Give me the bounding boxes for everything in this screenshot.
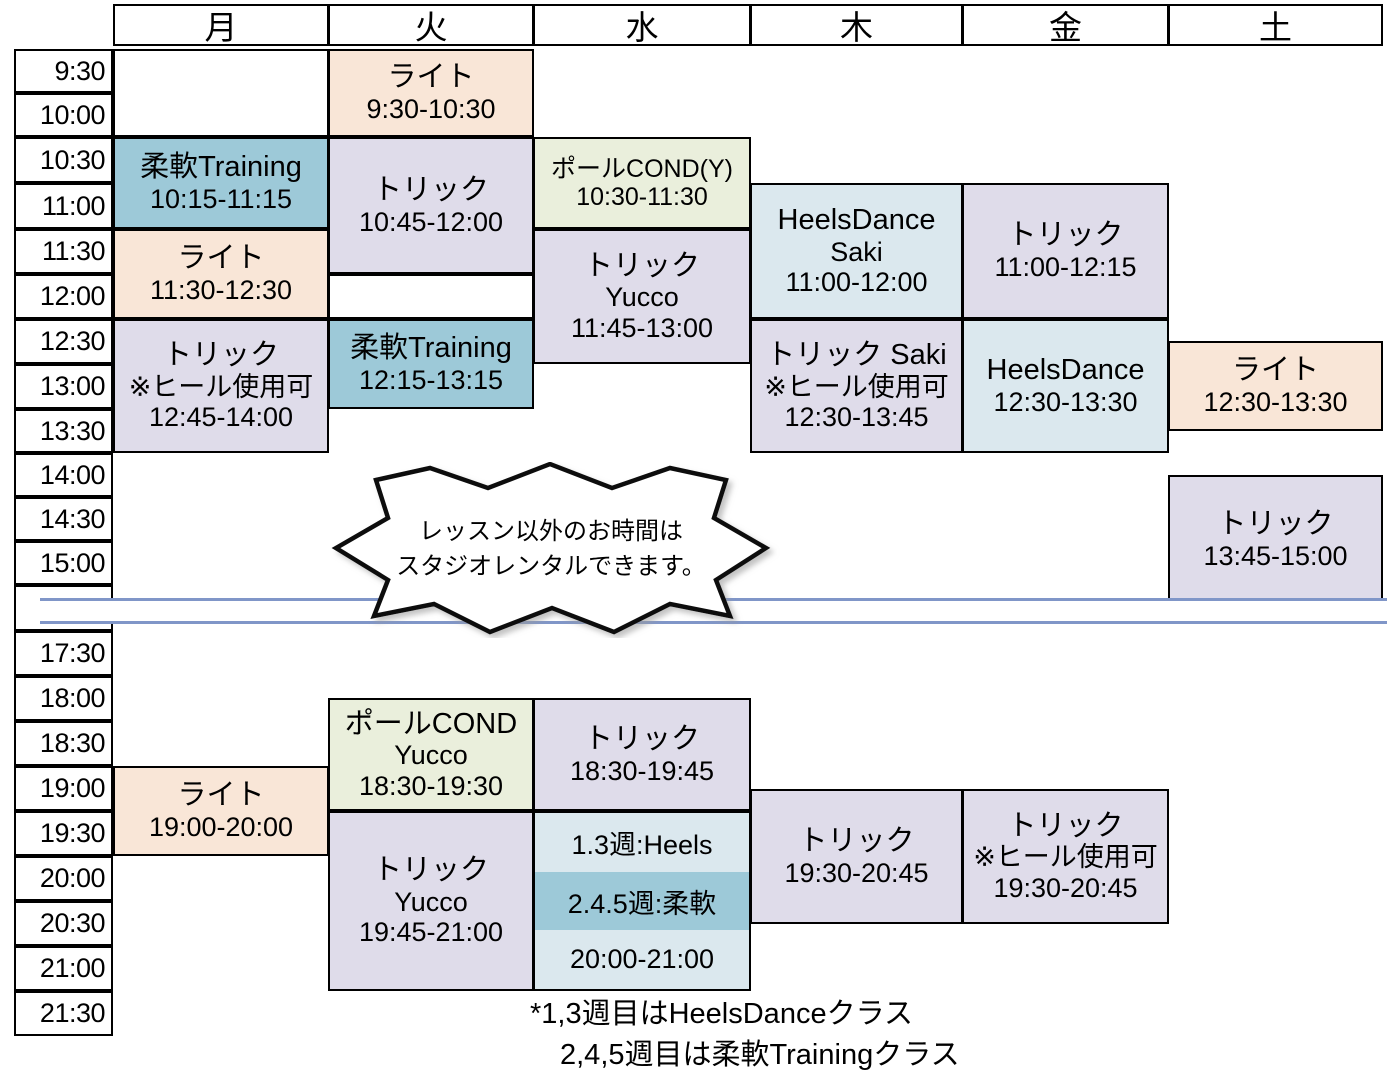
day-header-wed: 水 (533, 4, 751, 46)
class-time: 13:45-15:00 (1203, 541, 1347, 572)
time-label: 19:30 (40, 818, 105, 849)
class-title: トリック (1007, 810, 1123, 843)
class-block-fri-trick-morning[interactable]: トリック 11:00-12:15 (962, 183, 1169, 319)
footnote-line-1: *1,3週目はHeelsDanceクラス (530, 990, 913, 1032)
class-time: 20:00-21:00 (570, 944, 714, 975)
time-label: 18:00 (40, 683, 105, 714)
class-block-wed-trick-evening[interactable]: トリック 18:30-19:45 (533, 698, 751, 811)
class-title: トリック (373, 174, 489, 207)
class-time: 10:15-11:15 (150, 184, 292, 215)
time-row-1200: 12:00 (14, 274, 113, 319)
class-title: トリック (163, 339, 279, 372)
class-block-tue-juunan-training[interactable]: 柔軟Training 12:15-13:15 (328, 319, 534, 409)
day-header-thu-label: 木 (840, 1, 873, 49)
class-block-mon-light[interactable]: ライト 11:30-12:30 (113, 229, 329, 319)
day-header-wed-label: 水 (626, 1, 659, 49)
class-time: 11:30-12:30 (150, 275, 292, 306)
time-row-1430: 14:30 (14, 497, 113, 541)
day-header-sat-label: 土 (1259, 1, 1292, 49)
time-label: 10:30 (40, 145, 105, 176)
class-title: ポールCOND(Y) (551, 155, 733, 183)
time-row-1900: 19:00 (14, 766, 113, 811)
time-label: 15:00 (40, 548, 105, 579)
time-label: 13:30 (40, 416, 105, 447)
time-label: 20:00 (40, 863, 105, 894)
class-title: ライト (1232, 354, 1319, 387)
time-row-1030: 10:30 (14, 137, 113, 183)
class-title: ライト (387, 61, 474, 94)
class-block-tue-trick-evening[interactable]: トリック Yucco 19:45-21:00 (328, 811, 534, 991)
class-time: 19:45-21:00 (359, 917, 503, 948)
time-label: 13:00 (40, 371, 105, 402)
class-title: ライト (177, 779, 264, 812)
time-row-1500: 15:00 (14, 541, 113, 585)
class-block-tue-light[interactable]: ライト 9:30-10:30 (328, 49, 534, 137)
class-block-tue-trick-morning[interactable]: トリック 10:45-12:00 (328, 137, 534, 274)
class-note: ※ヒール使用可 (129, 372, 314, 403)
schedule-grid: 月 火 水 木 金 土 9:30 10:00 10:30 11:00 11:30… (0, 0, 1387, 1076)
time-label: 14:00 (40, 460, 105, 491)
class-time: 19:30-20:45 (993, 873, 1137, 904)
class-title: 柔軟Training (140, 151, 302, 184)
class-title: トリック (1007, 219, 1123, 252)
class-block-thu-trick-saki[interactable]: トリック Saki ※ヒール使用可 12:30-13:45 (750, 319, 963, 453)
class-instructor: Saki (830, 237, 883, 268)
class-title: ライト (177, 242, 264, 275)
time-row-2100: 21:00 (14, 946, 113, 991)
time-row-1330: 13:30 (14, 409, 113, 453)
class-instructor: Yucco (394, 740, 468, 771)
time-row-1800: 18:00 (14, 676, 113, 721)
time-row-2130: 21:30 (14, 991, 113, 1036)
class-time: 9:30-10:30 (366, 94, 495, 125)
class-block-thu-heelsdance-saki[interactable]: HeelsDance Saki 11:00-12:00 (750, 183, 963, 319)
schedule-page: 月 火 水 木 金 土 9:30 10:00 10:30 11:00 11:30… (0, 0, 1387, 1076)
class-note: ※ヒール使用可 (973, 842, 1158, 873)
time-label: 12:30 (40, 326, 105, 357)
class-alt-title: 2.4.5週:柔軟 (568, 882, 717, 921)
time-label: 21:30 (40, 998, 105, 1029)
time-row-1730: 17:30 (14, 631, 113, 676)
class-block-mon-juunan-training[interactable]: 柔軟Training 10:15-11:15 (113, 137, 329, 229)
class-title: ポールCOND (345, 708, 517, 741)
time-label: 9:30 (54, 56, 105, 87)
class-time: 12:15-13:15 (359, 365, 503, 396)
time-row-1230: 12:30 (14, 319, 113, 364)
time-row-0930: 9:30 (14, 49, 113, 93)
class-time: 18:30-19:45 (570, 756, 714, 787)
class-title: トリック (1217, 508, 1333, 541)
empty-cell-mon-morning (113, 49, 329, 137)
class-time: 12:30-13:30 (1203, 387, 1347, 418)
class-week13-label: 1.3週:Heels (535, 813, 749, 872)
day-header-mon-label: 月 (205, 1, 238, 49)
day-header-fri: 金 (962, 4, 1169, 46)
time-row-2000: 20:00 (14, 856, 113, 901)
class-time: 12:30-13:30 (993, 387, 1137, 418)
class-title: トリック (798, 825, 914, 858)
time-row-1930: 19:30 (14, 811, 113, 856)
class-time: 10:45-12:00 (359, 207, 503, 238)
class-block-wed-pole-cond-y[interactable]: ポールCOND(Y) 10:30-11:30 (533, 137, 751, 229)
time-label: 18:30 (40, 728, 105, 759)
class-title: HeelsDance (778, 204, 936, 237)
time-label: 19:00 (40, 773, 105, 804)
class-block-wed-heels-juunan-alternating[interactable]: 1.3週:Heels 2.4.5週:柔軟 20:00-21:00 (533, 811, 751, 991)
class-time: 19:30-20:45 (784, 858, 928, 889)
day-header-fri-label: 金 (1049, 1, 1082, 49)
class-block-sat-trick[interactable]: トリック 13:45-15:00 (1168, 475, 1383, 605)
time-label: 11:30 (42, 236, 105, 267)
time-label: 12:00 (40, 281, 105, 312)
class-block-fri-heelsdance[interactable]: HeelsDance 12:30-13:30 (962, 319, 1169, 453)
class-block-mon-light-evening[interactable]: ライト 19:00-20:00 (113, 766, 329, 856)
class-time: 18:30-19:30 (359, 771, 503, 802)
class-instructor: Yucco (605, 282, 679, 313)
time-label: 17:30 (40, 638, 105, 669)
time-label: 11:00 (42, 191, 105, 222)
class-instructor: Yucco (394, 887, 468, 918)
class-title: トリック (584, 250, 700, 283)
day-header-tue: 火 (328, 4, 534, 46)
class-block-mon-trick[interactable]: トリック ※ヒール使用可 12:45-14:00 (113, 319, 329, 453)
time-label: 10:00 (40, 100, 105, 131)
footnote-line-2: 2,4,5週目は柔軟Trainingクラス (560, 1031, 960, 1073)
class-time: 11:00-12:15 (994, 252, 1136, 283)
time-row-1130: 11:30 (14, 229, 113, 274)
class-title: トリック (584, 723, 700, 756)
time-row-1300: 13:00 (14, 364, 113, 409)
starburst-shape-icon (318, 462, 784, 638)
time-row-1100: 11:00 (14, 183, 113, 229)
class-block-thu-trick-evening[interactable]: トリック 19:30-20:45 (750, 789, 963, 924)
class-note: ※ヒール使用可 (764, 372, 949, 403)
class-title: トリック (373, 854, 489, 887)
time-row-2030: 20:30 (14, 901, 113, 946)
class-week245-label: 2.4.5週:柔軟 (535, 872, 749, 931)
class-time: 12:45-14:00 (149, 402, 293, 433)
day-header-thu: 木 (750, 4, 963, 46)
class-title: 1.3週:Heels (571, 823, 712, 862)
class-block-sat-light[interactable]: ライト 12:30-13:30 (1168, 341, 1383, 431)
class-title: HeelsDance (987, 354, 1145, 387)
day-header-sat: 土 (1168, 4, 1383, 46)
class-time-row: 20:00-21:00 (535, 930, 749, 989)
time-label: 20:30 (40, 908, 105, 939)
class-time: 11:45-13:00 (571, 313, 713, 344)
time-row-1000: 10:00 (14, 93, 113, 137)
class-time: 11:00-12:00 (785, 267, 927, 298)
class-time: 19:00-20:00 (149, 812, 293, 843)
class-time: 10:30-11:30 (576, 183, 708, 211)
class-title: 柔軟Training (350, 332, 512, 365)
time-label: 14:30 (40, 504, 105, 535)
class-title: トリック Saki (766, 339, 946, 372)
time-row-1400: 14:00 (14, 453, 113, 497)
time-label: 21:00 (40, 953, 105, 984)
class-time: 12:30-13:45 (784, 402, 928, 433)
time-row-1830: 18:30 (14, 721, 113, 766)
class-block-fri-trick-evening[interactable]: トリック ※ヒール使用可 19:30-20:45 (962, 789, 1169, 924)
class-block-tue-pole-cond[interactable]: ポールCOND Yucco 18:30-19:30 (328, 698, 534, 811)
studio-rental-callout: レッスン以外のお時間は スタジオレンタルできます。 (318, 462, 784, 638)
day-header-mon: 月 (113, 4, 329, 46)
empty-cell-tue-1200 (328, 274, 534, 319)
day-header-tue-label: 火 (415, 1, 448, 49)
class-block-wed-trick-yucco[interactable]: トリック Yucco 11:45-13:00 (533, 229, 751, 364)
